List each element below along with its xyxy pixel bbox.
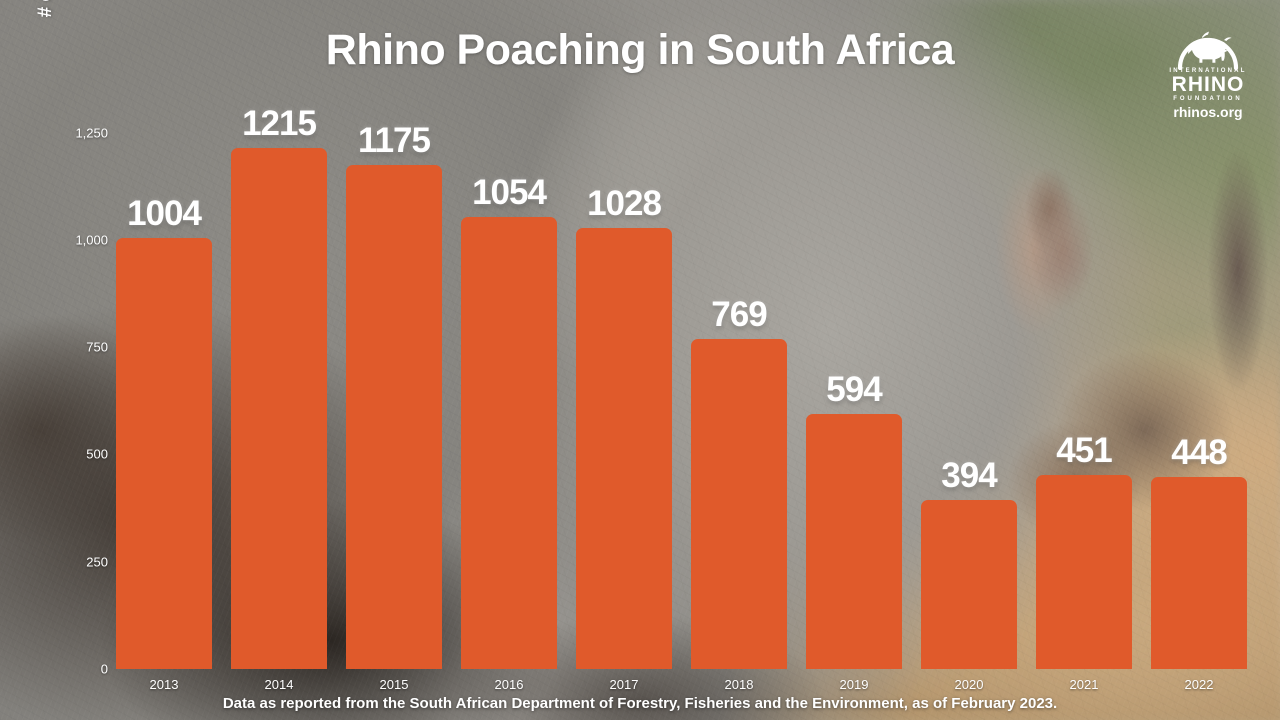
bar-value-label-2016: 1054 — [449, 175, 569, 210]
bar-value-label-2018: 769 — [679, 297, 799, 332]
infographic-canvas: Rhino Poaching in South Africa INTERNATI… — [0, 0, 1280, 720]
bar-value-label-2017: 1028 — [564, 186, 684, 221]
data-source-footnote: Data as reported from the South African … — [0, 695, 1280, 712]
bar-value-label-2019: 594 — [794, 372, 914, 407]
bar-2022[interactable] — [1151, 477, 1247, 669]
x-axis-label-2013: 2013 — [116, 678, 212, 691]
x-axis-label-2022: 2022 — [1151, 678, 1247, 691]
bar-2019[interactable] — [806, 414, 902, 669]
bar-value-label-2013: 1004 — [104, 196, 224, 231]
bar-value-label-2014: 1215 — [219, 106, 339, 141]
bar-2014[interactable] — [231, 148, 327, 669]
bar-2017[interactable] — [576, 228, 672, 669]
bar-2015[interactable] — [346, 165, 442, 669]
x-axis-label-2018: 2018 — [691, 678, 787, 691]
bar-2021[interactable] — [1036, 475, 1132, 669]
bar-2016[interactable] — [461, 217, 557, 669]
bar-value-label-2021: 451 — [1024, 433, 1144, 468]
bar-chart-plot-area: 1004201312152014117520151054201610282017… — [0, 0, 1280, 720]
bar-value-label-2022: 448 — [1139, 435, 1259, 470]
bar-2020[interactable] — [921, 500, 1017, 669]
x-axis-label-2020: 2020 — [921, 678, 1017, 691]
x-axis-label-2014: 2014 — [231, 678, 327, 691]
x-axis-label-2015: 2015 — [346, 678, 442, 691]
bar-value-label-2020: 394 — [909, 458, 1029, 493]
bar-2018[interactable] — [691, 339, 787, 669]
x-axis-label-2016: 2016 — [461, 678, 557, 691]
x-axis-label-2021: 2021 — [1036, 678, 1132, 691]
bar-value-label-2015: 1175 — [334, 123, 454, 158]
bar-2013[interactable] — [116, 238, 212, 669]
x-axis-label-2019: 2019 — [806, 678, 902, 691]
x-axis-label-2017: 2017 — [576, 678, 672, 691]
